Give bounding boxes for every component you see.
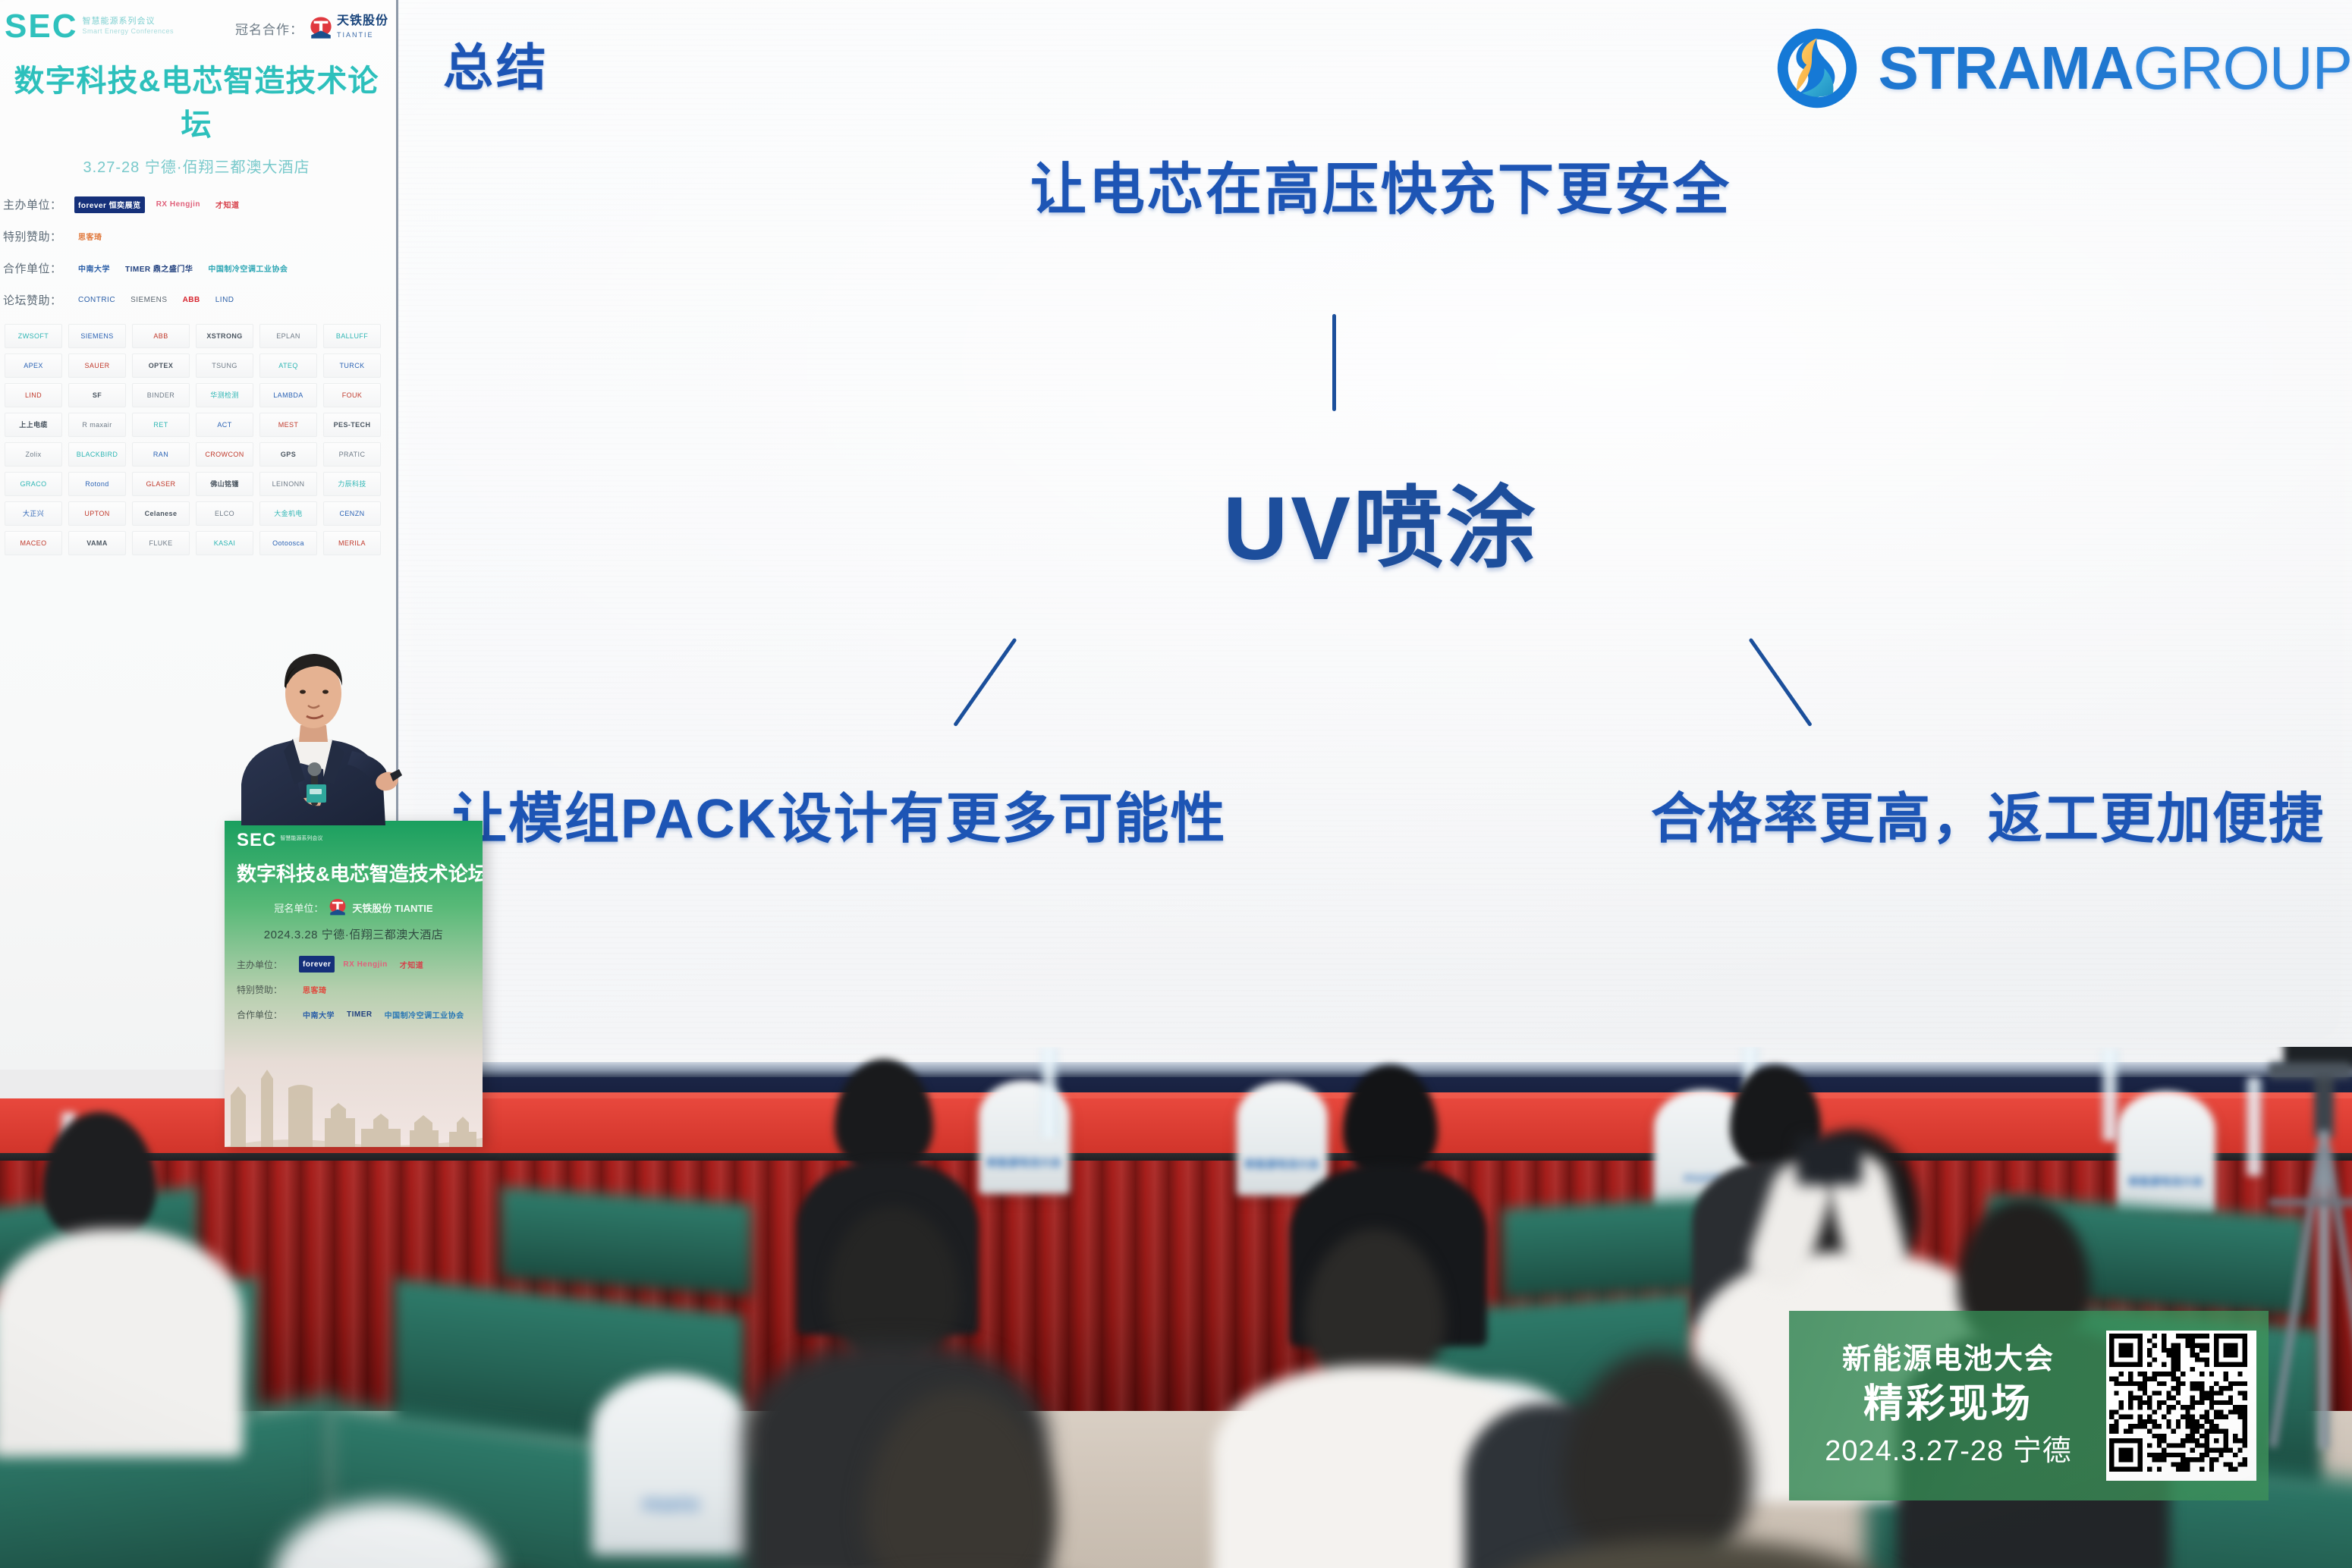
backdrop-sponsor-rows: 主办单位： forever 恒奕展览 RX Hengjin 才知道 特别赞助： …: [0, 192, 396, 313]
sponsor-logo: ABB: [179, 292, 204, 309]
event-watermark-badge: 新能源电池大会 精彩现场 2024.3.27-28 宁德: [1789, 1311, 2269, 1500]
podium-sec-logo: SEC 智慧能源系列会议: [237, 831, 470, 850]
sponsor-row-label: 合作单位：: [3, 260, 68, 276]
sponsor-logo: 才知道: [212, 196, 244, 213]
sponsor-wall-logo: LIND: [5, 383, 62, 407]
backdrop-date-venue: 3.27-28 宁德·佰翔三都澳大酒店: [5, 155, 388, 177]
sponsor-logo-wall: ZWSOFTSIEMENSABBXSTRONGEPLANBALLUFFAPEXS…: [0, 319, 396, 555]
podium-naming-logo: 天铁股份 TIANTIE: [352, 900, 432, 915]
podium-sponsor-logo: 中国制冷空调工业协会: [381, 1006, 468, 1023]
podium-sponsor-rows: 主办单位： forever RX Hengjin 才知道 特别赞助： 思客琦 合…: [237, 956, 470, 1023]
sponsor-row-label: 主办单位：: [3, 196, 68, 212]
sponsor-wall-logo: SIEMENS: [68, 324, 126, 348]
sponsor-wall-logo: SAUER: [68, 354, 126, 378]
sponsor-wall-logo: CENZN: [323, 501, 381, 526]
sponsor-logo: 中南大学: [74, 260, 114, 277]
naming-sponsor-label: 冠名合作：: [235, 19, 303, 38]
sec-sub-cn: 智慧能源系列会议: [82, 17, 174, 27]
sponsor-logo: SIEMENS: [127, 292, 171, 309]
presentation-slide: 总结 STRAMAGROUP 让电芯在高压快充下: [395, 0, 2352, 1062]
sponsor-wall-logo: R maxair: [68, 413, 126, 437]
podium-sponsor-label: 主办单位：: [237, 958, 294, 971]
sponsor-wall-logo: OPTEX: [132, 354, 190, 378]
chair-brand: POATO: [592, 1497, 751, 1515]
sponsor-logo: 中国制冷空调工业协会: [204, 260, 291, 277]
speaker-presenter: [228, 636, 432, 825]
sponsor-wall-logo: TSUNG: [196, 354, 253, 378]
sponsor-logo: CONTRIC: [74, 292, 119, 309]
sponsor-row-label: 特别赞助：: [3, 228, 68, 244]
podium-sponsor-row: 特别赞助： 思客琦: [237, 981, 470, 998]
attendee-phone: [1797, 1136, 1862, 1185]
sponsor-wall-logo: Ootoosca: [259, 531, 317, 555]
sec-logo: SEC 智慧能源系列会议 Smart Energy Conferences: [5, 11, 174, 42]
sponsor-row: 合作单位： 中南大学 TIMER 鼎之盛门华 中国制冷空调工业协会: [3, 256, 390, 281]
sponsor-row: 主办单位： forever 恒奕展览 RX Hengjin 才知道: [3, 192, 390, 218]
podium-sponsor-row: 合作单位： 中南大学 TIMER 中国制冷空调工业协会: [237, 1006, 470, 1023]
sponsor-wall-logo: ABB: [132, 324, 190, 348]
diagram-node-center: UV喷涂: [1223, 455, 1539, 585]
podium-sec-abbr: SEC: [237, 831, 276, 850]
tiantie-logo: 天铁股份 TIANTIE: [308, 15, 388, 41]
podium-naming-label: 冠名单位：: [274, 900, 323, 915]
podium-sponsor-label: 特别赞助：: [237, 983, 294, 996]
tiantie-mark-icon: [308, 15, 334, 41]
chair-brand: 新能源电池大会: [979, 1155, 1070, 1169]
podium-sponsor-logo: 中南大学: [299, 1006, 338, 1023]
sponsor-wall-logo: LAMBDA: [259, 383, 317, 407]
sponsor-logo: forever 恒奕展览: [74, 196, 145, 213]
connector-vertical: [1332, 314, 1336, 411]
sponsor-wall-logo: 佛山铭镭: [196, 472, 253, 496]
sponsor-logo: TIMER 鼎之盛门华: [121, 260, 197, 277]
tiantie-name-cn: 天铁股份: [337, 14, 388, 27]
conference-photo-scene: 总结 STRAMAGROUP 让电芯在高压快充下: [0, 0, 2352, 1568]
sponsor-wall-logo: MERILA: [323, 531, 381, 555]
sponsor-wall-logo: FLUKE: [132, 531, 190, 555]
sponsor-wall-logo: LEINONN: [259, 472, 317, 496]
sponsor-wall-logo: GRACO: [5, 472, 62, 496]
strama-group-logo: STRAMAGROUP: [1773, 24, 2352, 112]
podium-sponsor-logo: 才知道: [396, 956, 428, 973]
sponsor-wall-logo: VAMA: [68, 531, 126, 555]
diagram-node-bottom-left: 让模组PACK设计有更多可能性: [452, 774, 1227, 853]
attendee-head: [42, 1112, 156, 1243]
badge-line-2: 精彩现场: [1801, 1382, 2096, 1426]
sponsor-wall-logo: ELCO: [196, 501, 253, 526]
sponsor-wall-logo: TURCK: [323, 354, 381, 378]
attendee-head: [835, 1059, 933, 1173]
sponsor-wall-logo: UPTON: [68, 501, 126, 526]
chair-cover: POATO: [592, 1373, 751, 1555]
diagram-node-top: 让电芯在高压快充下更安全: [1030, 144, 1731, 225]
podium-sponsor-logo: RX Hengjin: [339, 956, 391, 973]
strama-swirl-icon: [1773, 24, 1861, 112]
sponsor-wall-logo: Rotond: [68, 472, 126, 496]
strama-group-wordmark: STRAMAGROUP: [1878, 38, 2352, 99]
sponsor-wall-logo: CROWCON: [196, 442, 253, 467]
sponsor-wall-logo: Celanese: [132, 501, 190, 526]
sponsor-wall-logo: PES-TECH: [323, 413, 381, 437]
chair-brand: 新能源电池大会: [1237, 1156, 1328, 1171]
sponsor-wall-logo: GLASER: [132, 472, 190, 496]
sponsor-wall-logo: XSTRONG: [196, 324, 253, 348]
sponsor-wall-logo: EPLAN: [259, 324, 317, 348]
naming-sponsor-block: 冠名合作： 天铁股份 TIANTIE: [235, 11, 388, 41]
podium-naming-sponsor: 冠名单位： 天铁股份 TIANTIE: [237, 897, 470, 917]
podium-sponsor-label: 合作单位：: [237, 1008, 294, 1021]
sponsor-wall-logo: ZWSOFT: [5, 324, 62, 348]
slide-title: 总结: [443, 27, 549, 100]
sponsor-logo: LIND: [212, 292, 238, 309]
sponsor-row: 特别赞助： 思客琦: [3, 224, 390, 250]
chair-cover: 新能源电池大会: [1237, 1082, 1328, 1196]
sponsor-wall-logo: BLACKBIRD: [68, 442, 126, 467]
sponsor-row-label: 论坛赞助：: [3, 292, 68, 308]
podium-title: 数字科技&电芯智造技术论坛: [237, 859, 470, 887]
sponsor-wall-logo: 力辰科技: [323, 472, 381, 496]
sponsor-wall-logo: 上上电缆: [5, 413, 62, 437]
badge-line-3: 2024.3.27-28 宁德: [1801, 1435, 2096, 1468]
sponsor-wall-logo: BALLUFF: [323, 324, 381, 348]
water-bottle: [2102, 1048, 2118, 1141]
badge-line-1: 新能源电池大会: [1801, 1343, 2096, 1376]
podium-sponsor-logo: 思客琦: [299, 981, 331, 998]
sponsor-wall-logo: FOUK: [323, 383, 381, 407]
connector-diagonal-right: [1748, 638, 1812, 727]
tiantie-mark-icon: [328, 897, 347, 917]
tiantie-name-en: TIANTIE: [337, 31, 374, 39]
podium-sponsor-logo: TIMER: [343, 1006, 376, 1023]
sponsor-wall-logo: PRATIC: [323, 442, 381, 467]
sponsor-wall-logo: ATEQ: [259, 354, 317, 378]
sponsor-wall-logo: RAN: [132, 442, 190, 467]
backdrop-title: 数字科技&电芯智造技术论坛: [5, 56, 388, 144]
sponsor-wall-logo: Zolix: [5, 442, 62, 467]
attendee-body: [0, 1229, 243, 1456]
sponsor-wall-logo: APEX: [5, 354, 62, 378]
podium-sponsor-row: 主办单位： forever RX Hengjin 才知道: [237, 956, 470, 973]
connector-diagonal-left: [953, 638, 1017, 727]
sponsor-wall-logo: MEST: [259, 413, 317, 437]
sponsor-logo: 思客琦: [74, 228, 106, 245]
podium-sec-sub: 智慧能源系列会议: [280, 831, 322, 842]
sponsor-wall-logo: 华测检测: [196, 383, 253, 407]
podium-sponsor-logo: forever: [299, 956, 335, 973]
chair-cover: 新能源电池大会: [2117, 1091, 2215, 1215]
sponsor-row: 论坛赞助： CONTRIC SIEMENS ABB LIND: [3, 288, 390, 313]
sponsor-wall-logo: 大正兴: [5, 501, 62, 526]
sponsor-logo: RX Hengjin: [153, 196, 204, 213]
logo-word-bold: STRAMA: [1878, 34, 2133, 102]
sponsor-wall-logo: 大金机电: [259, 501, 317, 526]
sponsor-wall-logo: GPS: [259, 442, 317, 467]
logo-word-light: GROUP: [2133, 34, 2352, 102]
chair-brand: 新能源电池大会: [2117, 1174, 2215, 1188]
draped-table: [501, 1186, 751, 1295]
sponsor-wall-logo: MACEO: [5, 531, 62, 555]
sec-abbr: SEC: [5, 11, 77, 42]
sponsor-wall-logo: BINDER: [132, 383, 190, 407]
qr-code-icon[interactable]: [2106, 1331, 2256, 1481]
sponsor-wall-logo: RET: [132, 413, 190, 437]
sec-sub-en: Smart Energy Conferences: [82, 27, 174, 36]
water-bottle: [1041, 1047, 1058, 1138]
diagram-node-bottom-right: 合格率更高，返工更加便捷: [1651, 774, 2325, 853]
sponsor-wall-logo: ACT: [196, 413, 253, 437]
sponsor-wall-logo: SF: [68, 383, 126, 407]
podium-date-venue: 2024.3.28 宁德·佰翔三都澳大酒店: [237, 926, 470, 942]
sponsor-wall-logo: KASAI: [196, 531, 253, 555]
attendee-head: [1343, 1065, 1438, 1177]
